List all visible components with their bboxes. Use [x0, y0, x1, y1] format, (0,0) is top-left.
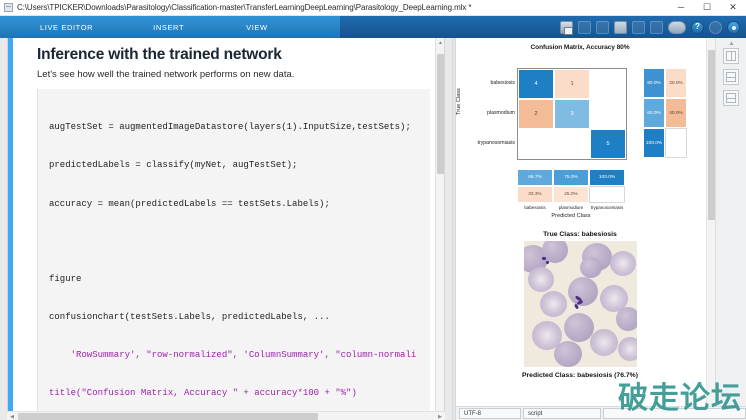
copy-icon[interactable] — [596, 21, 609, 34]
status-extra — [603, 408, 746, 419]
chart-x-axis-label: Predicted Class — [517, 213, 625, 219]
output-layout-toolbar: ▲ — [715, 38, 746, 410]
output-scroll-thumb[interactable] — [708, 50, 715, 220]
scroll-left-arrow-icon[interactable]: ◀ — [7, 412, 17, 420]
column-label: babesiosis — [517, 205, 553, 210]
column-label: plasmodium — [553, 205, 589, 210]
ribbon-bar: LIVE EDITOR INSERT VIEW ? — [0, 16, 746, 38]
code-line: 'RowSummary', "row-normalized", 'ColumnS… — [49, 349, 422, 362]
close-button[interactable]: ✕ — [720, 0, 746, 16]
document-section-1: Inference with the trained network Let's… — [8, 38, 444, 420]
tab-insert[interactable]: INSERT — [147, 16, 190, 38]
true-class-title: True Class: babesiosis — [456, 231, 704, 238]
row-label: babesiosis — [468, 68, 515, 98]
col-summary-cell: 75.0% — [553, 169, 589, 186]
code-line: figure — [49, 273, 422, 286]
paste-icon[interactable] — [614, 21, 627, 34]
code-line: augTestSet = augmentedImageDatastore(lay… — [49, 121, 422, 134]
confusion-chart-title: Confusion Matrix, Accuracy 80% — [456, 44, 704, 51]
live-script-document[interactable]: Inference with the trained network Let's… — [7, 38, 445, 420]
matrix-cell-empty — [554, 129, 590, 159]
layout-split-vertical-icon[interactable] — [723, 48, 739, 64]
column-label: trypanosomiasis — [589, 205, 625, 210]
confusion-matrix-grid: 4 1 2 3 5 — [517, 68, 627, 160]
predicted-class-caption: Predicted Class: babesiosis (76.7%) — [456, 372, 704, 379]
editor-scroll-thumb[interactable] — [437, 54, 444, 174]
matrix-cell-empty — [590, 99, 626, 129]
cut-icon[interactable] — [578, 21, 591, 34]
status-encoding: UTF-8 — [459, 408, 521, 419]
row-summary-cell-empty — [665, 128, 687, 158]
matrix-cell: 4 — [518, 69, 554, 99]
output-content: Confusion Matrix, Accuracy 80% True Clas… — [456, 38, 704, 410]
status-bar: UTF-8 script — [456, 406, 746, 420]
layout-icon[interactable] — [668, 21, 686, 34]
page-title: Inference with the trained network — [37, 46, 430, 64]
output-pane: Confusion Matrix, Accuracy 80% True Clas… — [456, 38, 746, 420]
row-summary-cell: 20.0% — [665, 68, 687, 98]
code-line: confusionchart(testSets.Labels, predicte… — [49, 311, 422, 324]
layout-split-horizontal-icon[interactable] — [723, 69, 739, 85]
matrix-cell: 1 — [554, 69, 590, 99]
redo-icon[interactable] — [650, 21, 663, 34]
quick-access-toolbar: ? — [340, 16, 746, 38]
workspace: Inference with the trained network Let's… — [0, 38, 746, 420]
window-controls: ─ ☐ ✕ — [668, 0, 746, 16]
search-icon[interactable] — [709, 21, 722, 34]
tab-view[interactable]: VIEW — [240, 16, 274, 38]
chart-y-axis-label: True Class — [456, 88, 462, 115]
blood-smear-image — [524, 241, 637, 367]
row-summary-cell: 100.0% — [643, 128, 665, 158]
row-summary-grid: 80.0% 20.0% 60.0% 40.0% 100.0% — [643, 68, 687, 158]
matlab-live-editor-window: C:\Users\TPICKER\Downloads\Parasitology\… — [0, 0, 746, 420]
matrix-cell: 5 — [590, 129, 626, 159]
editor-horizontal-scrollbar[interactable]: ◀ ▶ — [7, 411, 445, 420]
live-script-icon — [4, 3, 13, 12]
scroll-up-arrow-icon[interactable]: ▲ — [436, 38, 445, 48]
editor-pane: Inference with the trained network Let's… — [0, 38, 452, 420]
row-summary-cell: 60.0% — [643, 98, 665, 128]
sample-image-wrapper — [456, 241, 704, 367]
col-summary-cell: 66.7% — [517, 169, 553, 186]
undo-icon[interactable] — [632, 21, 645, 34]
code-line: title("Confusion Matrix, Accuracy " + ac… — [49, 387, 422, 400]
maximize-button[interactable]: ☐ — [694, 0, 720, 16]
editor-vertical-scrollbar[interactable]: ▲ ▼ — [435, 38, 444, 419]
col-summary-cell: 25.0% — [553, 186, 589, 203]
code-line: predictedLabels = classify(myNet, augTes… — [49, 159, 422, 172]
confusion-matrix-chart: True Class babesiosis plasmodium trypano… — [456, 55, 704, 227]
code-block-1[interactable]: augTestSet = augmentedImageDatastore(lay… — [37, 89, 430, 420]
minimize-button[interactable]: ─ — [668, 0, 694, 16]
layout-output-inline-icon[interactable] — [723, 90, 739, 106]
code-line: accuracy = mean(predictedLabels == testS… — [49, 198, 422, 211]
account-icon[interactable] — [727, 21, 740, 34]
row-label: plasmodium — [468, 98, 515, 128]
chart-row-labels: babesiosis plasmodium trypanosomiasis — [468, 68, 515, 158]
pane-collapse-icon[interactable]: ▲ — [727, 41, 736, 48]
scroll-right-arrow-icon[interactable]: ▶ — [435, 412, 445, 420]
status-file-type: script — [523, 408, 601, 419]
code-blank-line — [49, 236, 422, 247]
tab-live-editor[interactable]: LIVE EDITOR — [34, 16, 99, 38]
editor-hscroll-thumb[interactable] — [18, 413, 318, 420]
save-icon[interactable] — [560, 21, 573, 34]
col-summary-cell: 33.3% — [517, 186, 553, 203]
row-label: trypanosomiasis — [468, 128, 515, 158]
col-summary-cell-empty — [589, 186, 625, 203]
title-bar: C:\Users\TPICKER\Downloads\Parasitology\… — [0, 0, 746, 16]
row-summary-cell: 80.0% — [643, 68, 665, 98]
section-1-paragraph: Let's see how well the trained network p… — [37, 69, 430, 82]
column-summary-grid: 66.7% 75.0% 100.0% 33.3% 25.0% — [517, 169, 625, 203]
help-icon[interactable]: ? — [691, 21, 704, 34]
output-vertical-scrollbar[interactable] — [706, 38, 715, 410]
col-summary-cell: 100.0% — [589, 169, 625, 186]
matrix-cell: 3 — [554, 99, 590, 129]
matrix-cell: 2 — [518, 99, 554, 129]
window-title: C:\Users\TPICKER\Downloads\Parasitology\… — [17, 3, 668, 12]
ribbon-tabs: LIVE EDITOR INSERT VIEW — [0, 16, 340, 38]
chart-column-labels: babesiosis plasmodium trypanosomiasis — [517, 205, 625, 210]
section-indicator-bar[interactable] — [8, 38, 13, 420]
matrix-cell-empty — [518, 129, 554, 159]
row-summary-cell: 40.0% — [665, 98, 687, 128]
matrix-cell-empty — [590, 69, 626, 99]
